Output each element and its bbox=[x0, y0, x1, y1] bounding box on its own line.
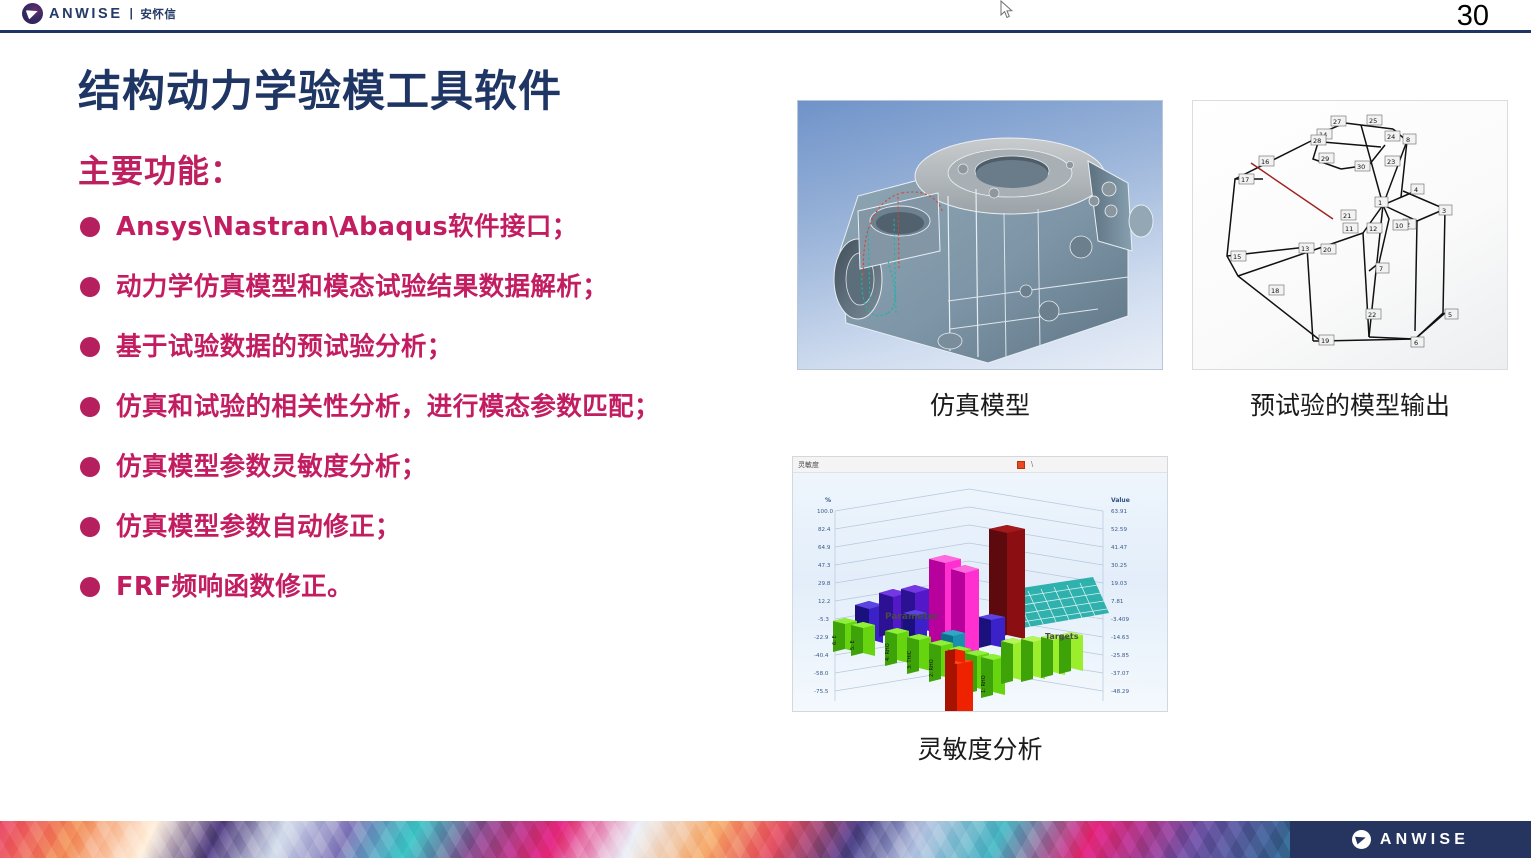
chart-right-tick: 63.91 bbox=[1111, 509, 1127, 515]
chart-left-tick: 29.8 bbox=[818, 581, 830, 587]
chart-left-tick: -75.5 bbox=[814, 689, 828, 695]
chart-left-tick: -58.0 bbox=[814, 671, 828, 677]
sensitivity-chart-caption: 灵敏度分析 bbox=[792, 730, 1168, 766]
list-item: 仿真和试验的相关性分析，进行模态参数匹配； bbox=[80, 388, 810, 448]
mouse-cursor-icon bbox=[1000, 0, 1014, 20]
anwise-logo-icon bbox=[22, 3, 43, 24]
svg-text:19: 19 bbox=[1321, 337, 1329, 345]
chart-header-bar: 灵敏度 \ bbox=[793, 457, 1167, 473]
chart-left-tick: -40.4 bbox=[814, 653, 828, 659]
chart-right-axis-title: Value bbox=[1111, 497, 1130, 504]
chart-right-tick: -37.07 bbox=[1111, 671, 1129, 677]
sensitivity-chart-image: 灵敏度 \ bbox=[792, 456, 1168, 712]
list-item: 动力学仿真模型和模态试验结果数据解析； bbox=[80, 268, 810, 328]
header-divider bbox=[0, 30, 1531, 33]
top-bar: ANWISE | 安怀信 30 bbox=[0, 0, 1531, 31]
chart-plot-area: 6: E 5: E 4: RHO bbox=[793, 473, 1168, 712]
svg-text:25: 25 bbox=[1369, 117, 1377, 125]
bullet-dot-icon bbox=[80, 337, 100, 357]
svg-text:5: 5 bbox=[1448, 311, 1452, 319]
svg-text:3: THIC: 3: THIC bbox=[907, 650, 913, 669]
brand-name-label: ANWISE bbox=[49, 6, 123, 22]
svg-text:7: 7 bbox=[1379, 265, 1383, 273]
pretest-wireframe-caption: 预试验的模型输出 bbox=[1192, 386, 1508, 422]
svg-text:17: 17 bbox=[1241, 176, 1249, 184]
svg-text:20: 20 bbox=[1323, 246, 1331, 254]
footer-brand: ANWISE bbox=[1290, 821, 1531, 858]
list-item-label: Ansys\Nastran\Abaqus软件接口； bbox=[116, 208, 578, 246]
feature-bullet-list: Ansys\Nastran\Abaqus软件接口； 动力学仿真模型和模态试验结果… bbox=[80, 208, 810, 628]
brand-chinese-label: 安怀信 bbox=[140, 6, 176, 22]
chart-left-tick: 12.2 bbox=[818, 599, 830, 605]
chart-right-tick: 19.03 bbox=[1111, 581, 1127, 587]
chart-right-tick: -25.85 bbox=[1111, 653, 1129, 659]
footer-hex-pattern bbox=[0, 821, 1290, 858]
svg-text:22: 22 bbox=[1368, 311, 1376, 319]
svg-text:3: 3 bbox=[1442, 207, 1446, 215]
footer-brand-label: ANWISE bbox=[1380, 831, 1469, 849]
chart-left-tick: 82.4 bbox=[818, 527, 830, 533]
svg-text:15: 15 bbox=[1233, 253, 1241, 261]
svg-text:Parameter: Parameter bbox=[885, 612, 939, 622]
brand-separator-label: | bbox=[130, 8, 134, 20]
chart-right-tick: 7.81 bbox=[1111, 599, 1123, 605]
brand-logo: ANWISE | 安怀信 bbox=[22, 3, 176, 24]
chart-right-tick: -48.29 bbox=[1111, 689, 1129, 695]
chart-right-tick: -3.409 bbox=[1111, 617, 1129, 623]
svg-text:5: E: 5: E bbox=[850, 640, 856, 650]
page-number: 30 bbox=[1457, 0, 1489, 33]
list-item: FRF频响函数修正。 bbox=[80, 568, 810, 628]
bullet-dot-icon bbox=[80, 457, 100, 477]
footer-bar: ANWISE bbox=[0, 821, 1531, 858]
svg-text:6: E: 6: E bbox=[832, 635, 838, 645]
svg-text:30: 30 bbox=[1357, 163, 1365, 171]
section-subtitle: 主要功能： bbox=[78, 146, 243, 192]
list-item-label: 动力学仿真模型和模态试验结果数据解析； bbox=[116, 268, 608, 306]
svg-text:23: 23 bbox=[1387, 158, 1395, 166]
svg-text:11: 11 bbox=[1345, 225, 1353, 233]
cad-model-image bbox=[797, 100, 1163, 370]
chart-title: 灵敏度 bbox=[798, 460, 819, 470]
svg-text:27: 27 bbox=[1333, 118, 1341, 126]
slide-canvas: ANWISE | 安怀信 30 结构动力学验模工具软件 主要功能： Ansys\… bbox=[0, 0, 1531, 858]
bullet-dot-icon bbox=[80, 217, 100, 237]
svg-text:24: 24 bbox=[1387, 133, 1395, 141]
svg-text:29: 29 bbox=[1321, 155, 1329, 163]
svg-text:4: 4 bbox=[1414, 186, 1418, 194]
page-title: 结构动力学验模工具软件 bbox=[78, 57, 562, 119]
chart-left-tick: 47.3 bbox=[818, 563, 830, 569]
bullet-dot-icon bbox=[80, 397, 100, 417]
svg-text:16: 16 bbox=[1261, 158, 1269, 166]
chart-left-tick: 64.9 bbox=[818, 545, 830, 551]
svg-text:6: 6 bbox=[1414, 339, 1418, 347]
svg-text:13: 13 bbox=[1301, 245, 1309, 253]
svg-text:18: 18 bbox=[1271, 287, 1279, 295]
list-item-label: 仿真模型参数灵敏度分析； bbox=[116, 448, 427, 486]
svg-text:10: 10 bbox=[1395, 222, 1403, 230]
svg-text:4: RHO: 4: RHO bbox=[885, 643, 891, 661]
list-item-label: 仿真和试验的相关性分析，进行模态参数匹配； bbox=[116, 388, 660, 426]
svg-text:21: 21 bbox=[1343, 212, 1351, 220]
svg-text:Targets: Targets bbox=[1045, 632, 1079, 641]
cad-model-caption: 仿真模型 bbox=[797, 386, 1163, 422]
chart-record-icon[interactable] bbox=[1017, 461, 1025, 469]
chart-right-tick: 52.59 bbox=[1111, 527, 1127, 533]
pretest-wireframe-image: 1 2 3 4 5 6 7 8 10 11 12 13 14 15 16 17 … bbox=[1192, 100, 1508, 370]
bullet-dot-icon bbox=[80, 517, 100, 537]
chart-right-tick: 30.25 bbox=[1111, 563, 1127, 569]
list-item: 基于试验数据的预试验分析； bbox=[80, 328, 810, 388]
chart-left-tick: -22.9 bbox=[814, 635, 828, 641]
chart-left-tick: -5.3 bbox=[818, 617, 829, 623]
svg-text:28: 28 bbox=[1313, 137, 1321, 145]
bullet-dot-icon bbox=[80, 277, 100, 297]
chart-right-tick: -14.63 bbox=[1111, 635, 1129, 641]
svg-text:1: 1 bbox=[1378, 199, 1382, 207]
svg-text:2: RHO: 2: RHO bbox=[929, 659, 935, 677]
bullet-dot-icon bbox=[80, 577, 100, 597]
list-item: 仿真模型参数自动修正； bbox=[80, 508, 810, 568]
list-item-label: 仿真模型参数自动修正； bbox=[116, 508, 401, 546]
list-item: Ansys\Nastran\Abaqus软件接口； bbox=[80, 208, 810, 268]
anwise-footer-logo-icon bbox=[1352, 830, 1371, 849]
chart-right-tick: 41.47 bbox=[1111, 545, 1127, 551]
list-item-label: FRF频响函数修正。 bbox=[116, 568, 353, 606]
chart-slash-icon: \ bbox=[1031, 460, 1033, 469]
svg-text:1: RHO: 1: RHO bbox=[981, 675, 987, 693]
chart-left-axis-title: % bbox=[825, 497, 831, 504]
svg-text:12: 12 bbox=[1369, 225, 1377, 233]
svg-text:8: 8 bbox=[1406, 136, 1410, 144]
list-item-label: 基于试验数据的预试验分析； bbox=[116, 328, 453, 366]
list-item: 仿真模型参数灵敏度分析； bbox=[80, 448, 810, 508]
chart-left-tick: 100.0 bbox=[817, 509, 833, 515]
